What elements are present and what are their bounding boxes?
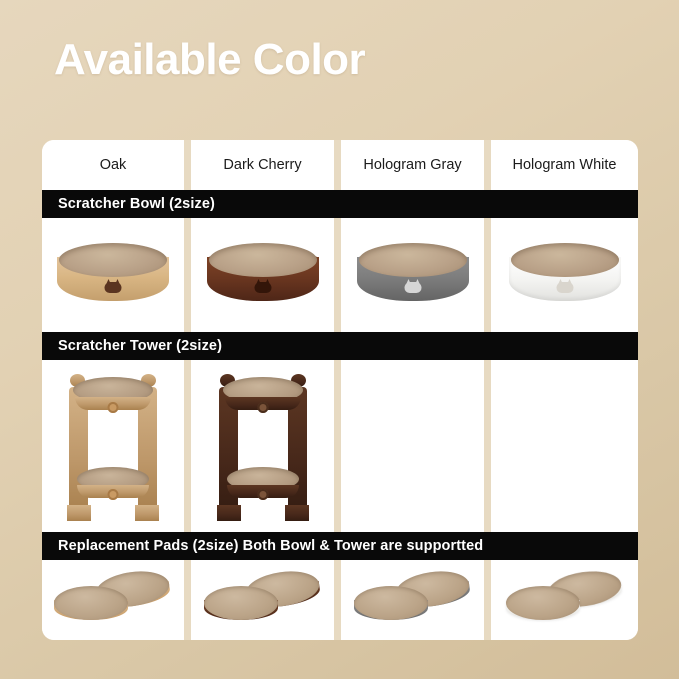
product-image-tower-dark-cherry <box>191 360 334 532</box>
product-cell-bowl-dark-cherry <box>191 218 334 332</box>
product-cell-pads-oak <box>42 560 184 640</box>
section-header-scratcher-tower: Scratcher Tower (2size) <box>42 332 638 360</box>
section-header-label: Scratcher Tower (2size) <box>42 338 222 354</box>
cat-head-icon <box>254 279 271 293</box>
column-header-label: Hologram Gray <box>363 157 461 173</box>
product-cell-bowl-hologram-white <box>491 218 638 332</box>
product-image-pads-hologram-white <box>491 560 638 640</box>
product-cell-bowl-oak <box>42 218 184 332</box>
section-header-label: Scratcher Bowl (2size) <box>42 196 215 212</box>
product-cell-tower-oak <box>42 360 184 532</box>
product-image-bowl-dark-cherry <box>191 218 334 332</box>
product-cell-pads-hologram-gray <box>341 560 484 640</box>
product-cell-tower-hologram-white-empty <box>491 360 638 532</box>
column-header-oak: Oak <box>42 140 184 190</box>
section-header-scratcher-bowl: Scratcher Bowl (2size) <box>42 190 638 218</box>
product-image-pads-dark-cherry <box>191 560 334 640</box>
product-image-bowl-oak <box>42 218 184 332</box>
color-comparison-table: Oak Dark Cherry Hologram Gray Hologram W… <box>42 140 638 640</box>
product-cell-bowl-hologram-gray <box>341 218 484 332</box>
product-image-tower-oak <box>42 360 184 532</box>
product-cell-tower-hologram-gray-empty <box>341 360 484 532</box>
product-image-pads-hologram-gray <box>341 560 484 640</box>
cat-head-icon <box>105 279 122 293</box>
page-title: Available Color <box>54 38 365 82</box>
column-header-dark-cherry: Dark Cherry <box>191 140 334 190</box>
cat-head-icon <box>404 279 421 293</box>
column-header-label: Dark Cherry <box>223 157 301 173</box>
section-header-label: Replacement Pads (2size) Both Bowl & Tow… <box>42 538 483 554</box>
column-header-hologram-gray: Hologram Gray <box>341 140 484 190</box>
column-header-label: Oak <box>100 157 127 173</box>
product-image-bowl-hologram-white <box>491 218 638 332</box>
product-color-chart: Available Color Oak Dark Cherry Hologram… <box>0 0 679 679</box>
product-image-pads-oak <box>42 560 184 640</box>
product-cell-tower-dark-cherry <box>191 360 334 532</box>
column-header-hologram-white: Hologram White <box>491 140 638 190</box>
product-cell-pads-hologram-white <box>491 560 638 640</box>
product-cell-pads-dark-cherry <box>191 560 334 640</box>
cat-head-icon <box>556 279 573 293</box>
product-image-bowl-hologram-gray <box>341 218 484 332</box>
column-header-label: Hologram White <box>513 157 617 173</box>
section-header-replacement-pads: Replacement Pads (2size) Both Bowl & Tow… <box>42 532 638 560</box>
